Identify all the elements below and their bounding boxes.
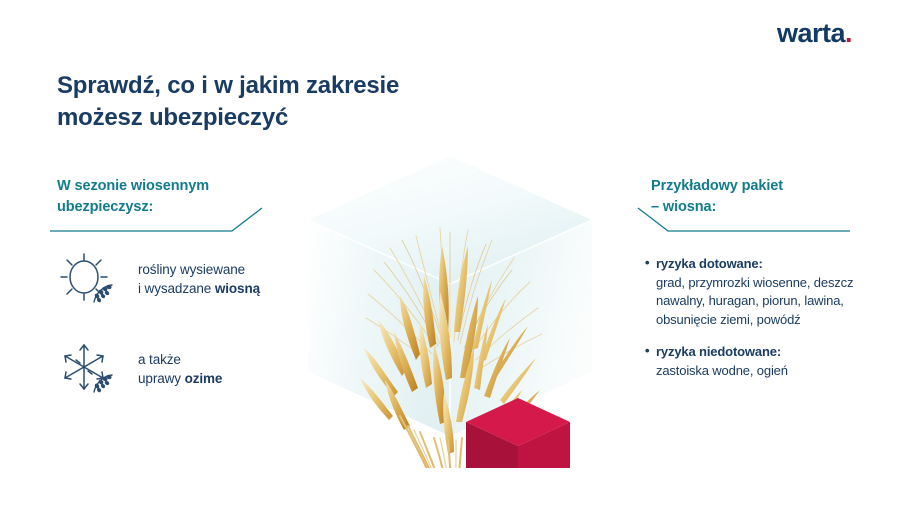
right-heading-divider xyxy=(615,205,850,235)
bullet-nonsubsidised-risks: ryzyka niedotowane: zastoiska wodne, ogi… xyxy=(645,343,890,380)
bullet-subsidised-risks-body: grad, przymrozki wiosenne, deszcz nawaln… xyxy=(656,274,890,330)
infographic-canvas: warta. Sprawdź, co i w jakim zakresie mo… xyxy=(0,0,900,506)
bullet-nonsubsidised-risks-lead: ryzyka niedotowane: xyxy=(656,343,890,362)
page-title-line-2: możesz ubezpieczyć xyxy=(57,102,497,134)
snowflake-with-wheat-ear-icon xyxy=(58,340,120,398)
right-heading-line-1: Przykładowy pakiet xyxy=(651,176,881,197)
left-feature-winter-line-1: a także xyxy=(138,350,222,369)
logo-wordmark: warta xyxy=(777,18,845,48)
logo-dot: . xyxy=(845,18,852,48)
page-title: Sprawdź, co i w jakim zakresie możesz ub… xyxy=(57,70,497,133)
left-feature-spring: rośliny wysiewane i wysadzane wiosną xyxy=(58,250,260,308)
left-heading-divider xyxy=(50,205,285,235)
left-feature-winter-line-2-bold: ozime xyxy=(185,371,223,386)
bullet-nonsubsidised-risks-body: zastoiska wodne, ogień xyxy=(656,362,890,381)
left-feature-spring-line-2-prefix: i wysadzane xyxy=(138,281,215,296)
left-feature-winter-line-2-prefix: uprawy xyxy=(138,371,185,386)
left-feature-spring-line-2-bold: wiosną xyxy=(215,281,260,296)
left-feature-winter: a także uprawy ozime xyxy=(58,340,222,398)
bullet-subsidised-risks: ryzyka dotowane: grad, przymrozki wiosen… xyxy=(645,255,890,330)
sun-with-wheat-ear-icon xyxy=(58,250,120,308)
left-feature-winter-text: a także uprawy ozime xyxy=(138,350,222,388)
bullet-subsidised-risks-lead: ryzyka dotowane: xyxy=(656,255,890,274)
left-heading-line-1: W sezonie wiosennym xyxy=(57,176,287,197)
left-feature-spring-text: rośliny wysiewane i wysadzane wiosną xyxy=(138,260,260,298)
wheat-bundle-in-glass-cube-illustration xyxy=(290,148,610,468)
page-title-line-1: Sprawdź, co i w jakim zakresie xyxy=(57,70,497,102)
warta-logo: warta. xyxy=(777,20,852,47)
left-feature-spring-line-1: rośliny wysiewane xyxy=(138,260,260,279)
right-bullet-list: ryzyka dotowane: grad, przymrozki wiosen… xyxy=(645,255,890,393)
